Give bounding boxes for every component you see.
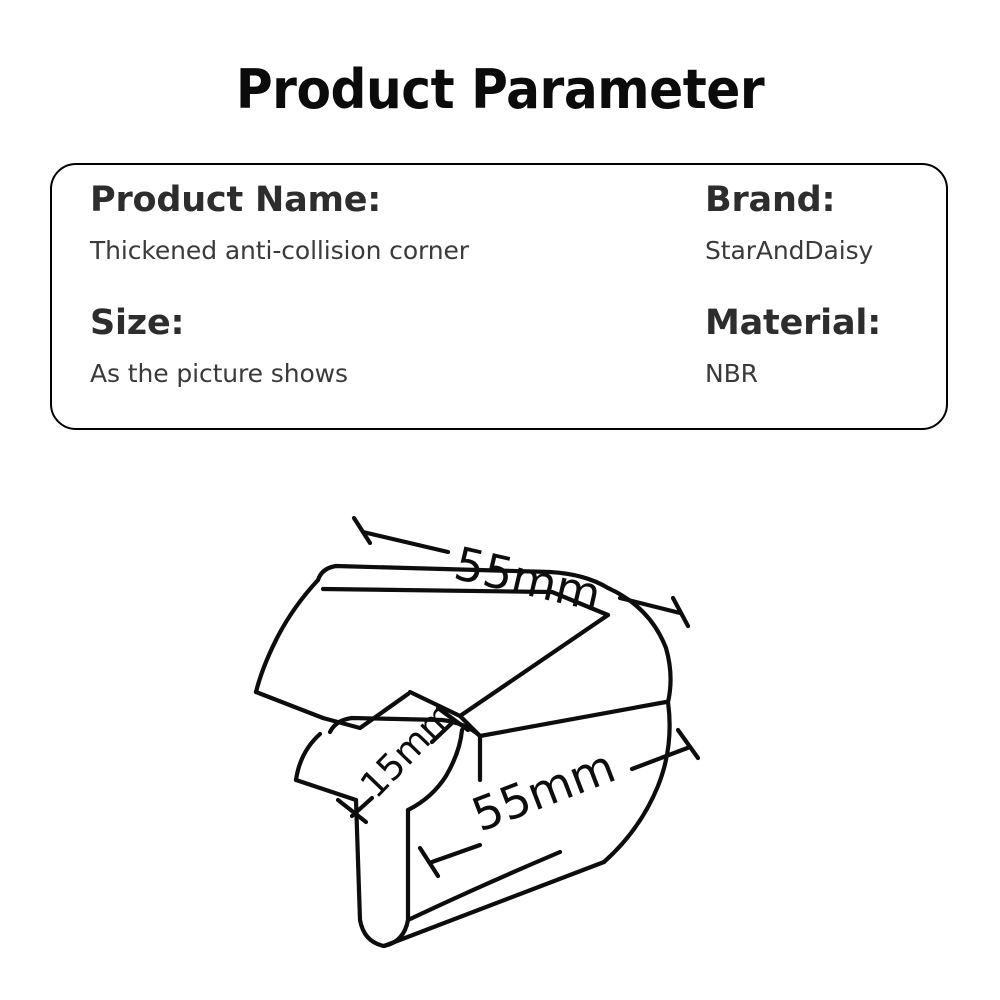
product-parameter-card: Product Name: Thickened anti-collision c…: [50, 163, 948, 430]
spec-value-size: As the picture shows: [90, 358, 348, 389]
product-dimension-diagram: 55mm 55mm 15mm: [180, 480, 820, 980]
spec-field-material: Material: NBR: [705, 302, 881, 389]
spec-value-product-name: Thickened anti-collision corner: [90, 235, 469, 266]
spec-field-size: Size: As the picture shows: [90, 302, 348, 389]
dimension-label-thickness: 15mm: [353, 694, 463, 806]
spec-label-brand: Brand:: [705, 179, 873, 223]
dimension-label-top: 55mm: [450, 536, 607, 622]
spec-value-material: NBR: [705, 358, 881, 389]
spec-field-brand: Brand: StarAndDaisy: [705, 179, 873, 266]
dimension-label-right: 55mm: [465, 739, 623, 843]
spec-label-size: Size:: [90, 302, 348, 346]
spec-grid: Product Name: Thickened anti-collision c…: [52, 165, 946, 428]
page-title: Product Parameter: [35, 62, 965, 119]
spec-field-product-name: Product Name: Thickened anti-collision c…: [90, 179, 469, 266]
spec-label-material: Material:: [705, 302, 881, 346]
spec-value-brand: StarAndDaisy: [705, 235, 873, 266]
spec-label-product-name: Product Name:: [90, 179, 469, 223]
corner-guard-illustration: 55mm 55mm 15mm: [180, 480, 820, 980]
